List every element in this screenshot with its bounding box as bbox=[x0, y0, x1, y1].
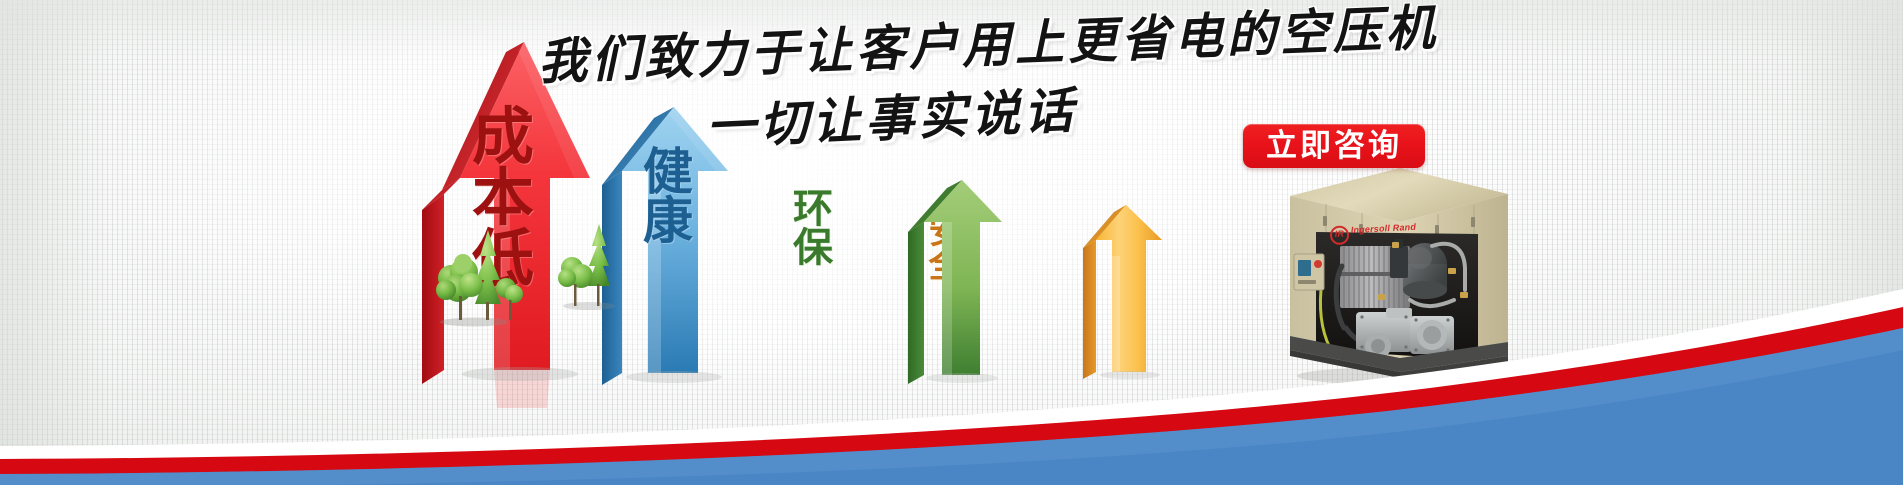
arrow-label-char: 低 bbox=[472, 230, 534, 291]
arrow-label-char: 保 bbox=[793, 229, 833, 268]
arrow-label-char: 成 bbox=[472, 108, 534, 169]
arrow-label-cost-low: 成 本 低 bbox=[466, 108, 540, 290]
arrow-label-char: 健 bbox=[643, 148, 693, 197]
arrow-label-char: 安 bbox=[928, 215, 963, 249]
arrow-label-char: 全 bbox=[928, 249, 963, 283]
arrow-label-char: 康 bbox=[643, 197, 693, 246]
promo-banner: 安 全 bbox=[0, 0, 1903, 485]
arrow-label-health: 健 康 bbox=[639, 148, 697, 246]
consult-now-button[interactable]: 立即咨询 bbox=[1243, 124, 1425, 168]
arrow-label-char: 环 bbox=[793, 190, 833, 229]
arrow-label-environmental: 环 保 bbox=[789, 190, 837, 268]
arrow-label-safety: 安 全 bbox=[925, 215, 967, 284]
arrow-label-char: 本 bbox=[472, 169, 534, 230]
